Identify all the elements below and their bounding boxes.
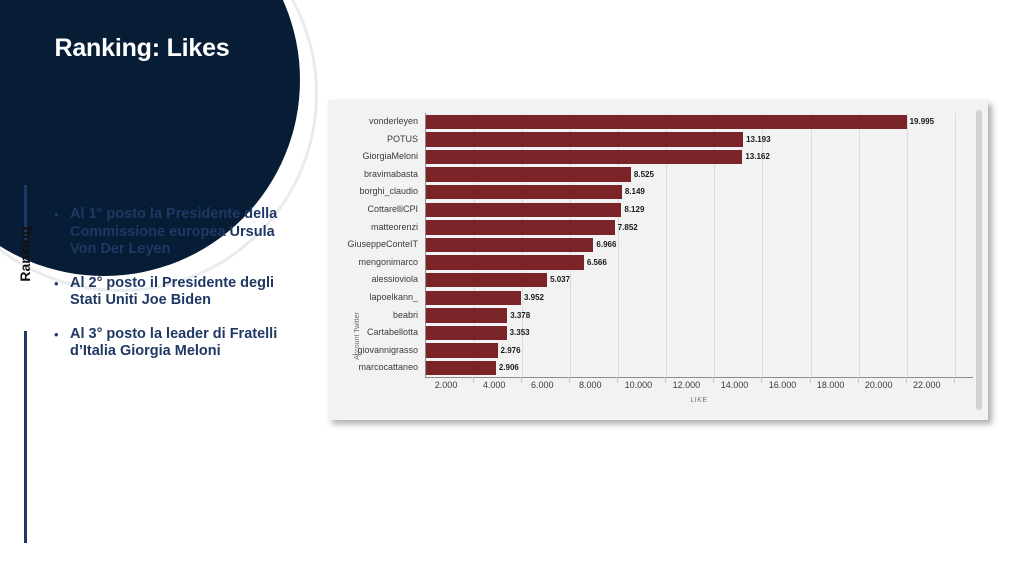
chart-bar-row: borghi_claudio8.149 bbox=[328, 183, 988, 201]
chart-bar-row: GiorgiaMeloni13.162 bbox=[328, 148, 988, 166]
chart-bar bbox=[426, 273, 547, 287]
bar-value-label: 6.566 bbox=[587, 254, 607, 272]
chart-bar bbox=[426, 220, 615, 234]
bar-value-label: 19.995 bbox=[910, 113, 934, 131]
category-label: alessioviola bbox=[328, 271, 418, 289]
chart-bar-row: alessioviola5.037 bbox=[328, 271, 988, 289]
section-label-ranking: Ranking bbox=[17, 221, 35, 287]
panel-scrollbar-thumb[interactable] bbox=[976, 110, 982, 410]
chart-bar bbox=[426, 255, 584, 269]
chart-bar-row: Cartabellotta3.353 bbox=[328, 324, 988, 342]
bullet-text: Al 1° posto la Presidente della Commissi… bbox=[70, 206, 298, 259]
chart-bar-row: marcocattaneo2.906 bbox=[328, 359, 988, 377]
bar-value-label: 8.525 bbox=[634, 166, 654, 184]
bullet-dot-icon: • bbox=[54, 206, 70, 224]
bar-value-label: 8.149 bbox=[625, 183, 645, 201]
chart-bar bbox=[426, 361, 496, 375]
chart-panel: Account Twitter LIKE 2.0004.0006.0008.00… bbox=[328, 100, 988, 420]
bullet-list: •Al 1° posto la Presidente della Commiss… bbox=[54, 206, 298, 377]
category-label: marcocattaneo bbox=[328, 359, 418, 377]
bar-value-label: 2.906 bbox=[499, 359, 519, 377]
bar-value-label: 13.162 bbox=[745, 148, 769, 166]
chart-bar bbox=[426, 132, 743, 146]
bullet-text: Al 3° posto la leader di Fratelli d’Ital… bbox=[70, 326, 298, 361]
category-label: POTUS bbox=[328, 131, 418, 149]
x-axis-title: LIKE bbox=[425, 397, 973, 404]
page-title: Ranking: Likes bbox=[0, 34, 284, 63]
chart-bar bbox=[426, 238, 593, 252]
category-label: borghi_claudio bbox=[328, 183, 418, 201]
category-label: _giovannigrasso bbox=[328, 342, 418, 360]
bar-value-label: 3.353 bbox=[510, 324, 530, 342]
x-axis-line bbox=[425, 377, 973, 378]
bar-value-label: 3.952 bbox=[524, 289, 544, 307]
bar-value-label: 2.976 bbox=[501, 342, 521, 360]
category-label: mengonimarco bbox=[328, 254, 418, 272]
chart-bar-row: beabri3.378 bbox=[328, 307, 988, 325]
bar-value-label: 7.852 bbox=[618, 219, 638, 237]
chart-bar bbox=[426, 185, 622, 199]
category-label: CottarelliCPI bbox=[328, 201, 418, 219]
bullet-text: Al 2° posto il Presidente degli Stati Un… bbox=[70, 275, 298, 310]
category-label: GiuseppeConteIT bbox=[328, 236, 418, 254]
chart-bar-row: bravimabasta8.525 bbox=[328, 166, 988, 184]
bar-value-label: 6.966 bbox=[596, 236, 616, 254]
chart-bar bbox=[426, 115, 907, 129]
x-tick-label: 22.000 bbox=[899, 380, 955, 390]
bullet-item: •Al 1° posto la Presidente della Commiss… bbox=[54, 206, 298, 259]
category-label: GiorgiaMeloni bbox=[328, 148, 418, 166]
chart-canvas: Account Twitter LIKE 2.0004.0006.0008.00… bbox=[328, 100, 988, 420]
chart-bar-row: _giovannigrasso2.976 bbox=[328, 342, 988, 360]
category-label: Cartabellotta bbox=[328, 324, 418, 342]
panel-scrollbar[interactable] bbox=[976, 110, 982, 410]
chart-bar bbox=[426, 150, 742, 164]
chart-bar-row: GiuseppeConteIT6.966 bbox=[328, 236, 988, 254]
category-label: bravimabasta bbox=[328, 166, 418, 184]
category-label: lapoelkann_ bbox=[328, 289, 418, 307]
bullet-item: •Al 3° posto la leader di Fratelli d’Ita… bbox=[54, 326, 298, 361]
chart-bar bbox=[426, 326, 507, 340]
category-label: beabri bbox=[328, 307, 418, 325]
category-label: vonderleyen bbox=[328, 113, 418, 131]
chart-bar-row: lapoelkann_3.952 bbox=[328, 289, 988, 307]
chart-bar-row: POTUS13.193 bbox=[328, 131, 988, 149]
bullet-item: •Al 2° posto il Presidente degli Stati U… bbox=[54, 275, 298, 310]
bar-value-label: 8.129 bbox=[624, 201, 644, 219]
category-label: matteorenzi bbox=[328, 219, 418, 237]
chart-bar-row: mengonimarco6.566 bbox=[328, 254, 988, 272]
chart-bar-row: CottarelliCPI8.129 bbox=[328, 201, 988, 219]
chart-bar-row: vonderleyen19.995 bbox=[328, 113, 988, 131]
chart-bar bbox=[426, 167, 631, 181]
chart-bar bbox=[426, 343, 498, 357]
chart-bar-row: matteorenzi7.852 bbox=[328, 219, 988, 237]
bar-value-label: 5.037 bbox=[550, 271, 570, 289]
bar-value-label: 13.193 bbox=[746, 131, 770, 149]
bar-value-label: 3.378 bbox=[510, 307, 530, 325]
rail-divider-bottom bbox=[24, 331, 27, 543]
chart-bar bbox=[426, 308, 507, 322]
chart-bar bbox=[426, 291, 521, 305]
bullet-dot-icon: • bbox=[54, 326, 70, 344]
bullet-dot-icon: • bbox=[54, 275, 70, 293]
chart-bar bbox=[426, 203, 621, 217]
